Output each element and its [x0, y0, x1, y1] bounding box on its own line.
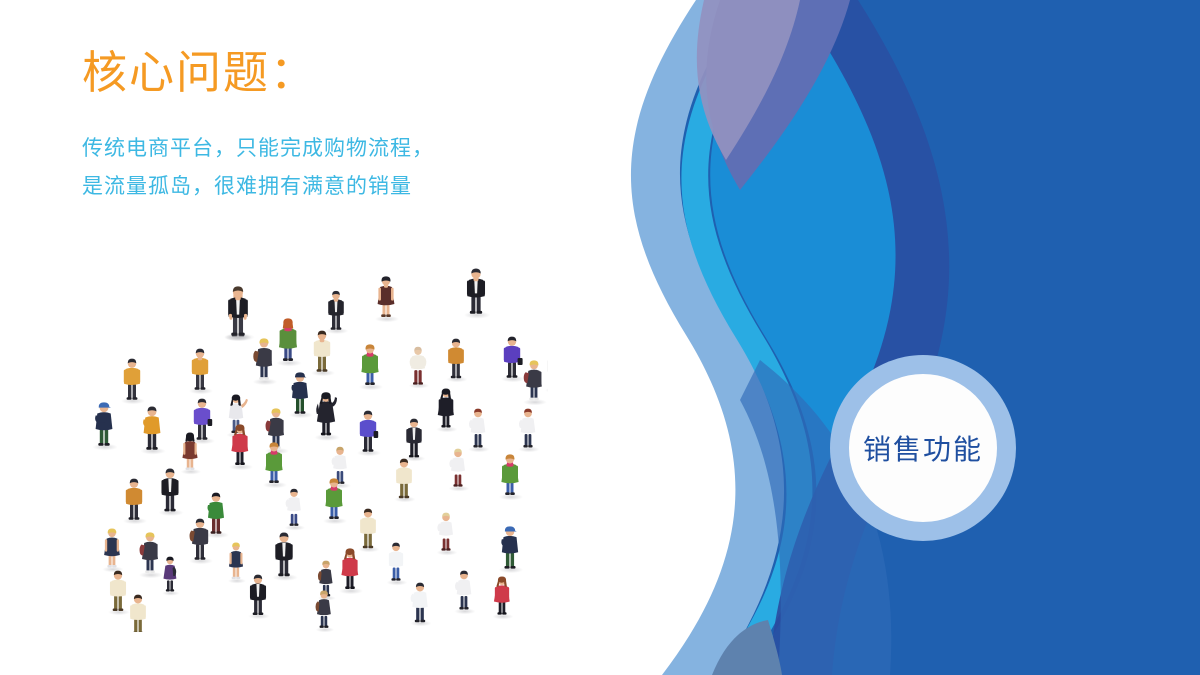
crowd-illustration: .sh { } .skin { fill: #e8b48f; }	[78, 262, 548, 632]
person	[499, 454, 523, 500]
person	[339, 548, 363, 594]
person	[159, 469, 184, 516]
person	[446, 339, 467, 383]
person	[189, 519, 213, 565]
person	[405, 419, 426, 462]
person	[545, 349, 548, 394]
person	[311, 331, 335, 377]
person	[449, 449, 470, 492]
person	[123, 479, 147, 525]
person	[468, 409, 489, 453]
person	[92, 402, 117, 450]
person	[501, 337, 525, 383]
person	[436, 388, 457, 432]
person	[409, 347, 429, 389]
sales-feature-badge[interactable]: 销售功能	[830, 355, 1016, 541]
person	[224, 286, 255, 341]
person	[121, 359, 145, 405]
person	[326, 291, 349, 334]
crowd-people-group	[92, 268, 548, 632]
page-title: 核心问题：	[82, 47, 317, 99]
person	[499, 526, 523, 573]
person	[102, 528, 123, 572]
person	[191, 399, 215, 445]
person	[410, 583, 431, 627]
person	[387, 543, 408, 586]
wave-background-svg	[600, 0, 1200, 675]
person	[523, 360, 547, 405]
person	[437, 513, 458, 556]
person	[228, 543, 246, 584]
person	[289, 372, 313, 418]
person	[357, 411, 381, 457]
right-decorative-panel	[600, 0, 1200, 675]
person	[248, 575, 270, 619]
person	[272, 533, 297, 581]
person	[189, 349, 213, 395]
subtitle-block: 传统电商平台，只能完成购物流程， 是流量孤岛，很难拥有满意的销量	[82, 130, 434, 206]
subtitle-line-2: 是流量孤岛，很难拥有满意的销量	[82, 168, 434, 206]
slide-canvas: 核心问题： 传统电商平台，只能完成购物流程， 是流量孤岛，很难拥有满意的销量	[0, 0, 1200, 675]
person	[162, 557, 179, 596]
person	[276, 318, 301, 366]
person	[128, 595, 149, 632]
person	[464, 268, 490, 318]
person	[518, 409, 539, 453]
person	[285, 489, 305, 531]
person	[358, 509, 379, 553]
person	[359, 344, 383, 390]
person	[253, 338, 277, 385]
person	[314, 392, 339, 441]
person	[205, 493, 229, 539]
person	[108, 571, 130, 615]
person	[139, 532, 163, 578]
crowd-illustration-svg: .sh { } .skin { fill: #e8b48f; }	[78, 262, 548, 632]
person	[140, 407, 165, 455]
person	[375, 276, 399, 322]
person	[493, 576, 514, 619]
badge-label: 销售功能	[863, 428, 983, 468]
badge-inner-circle: 销售功能	[849, 374, 997, 522]
subtitle-line-1: 传统电商平台，只能完成购物流程，	[82, 130, 434, 168]
person	[394, 459, 415, 503]
person	[454, 571, 475, 615]
